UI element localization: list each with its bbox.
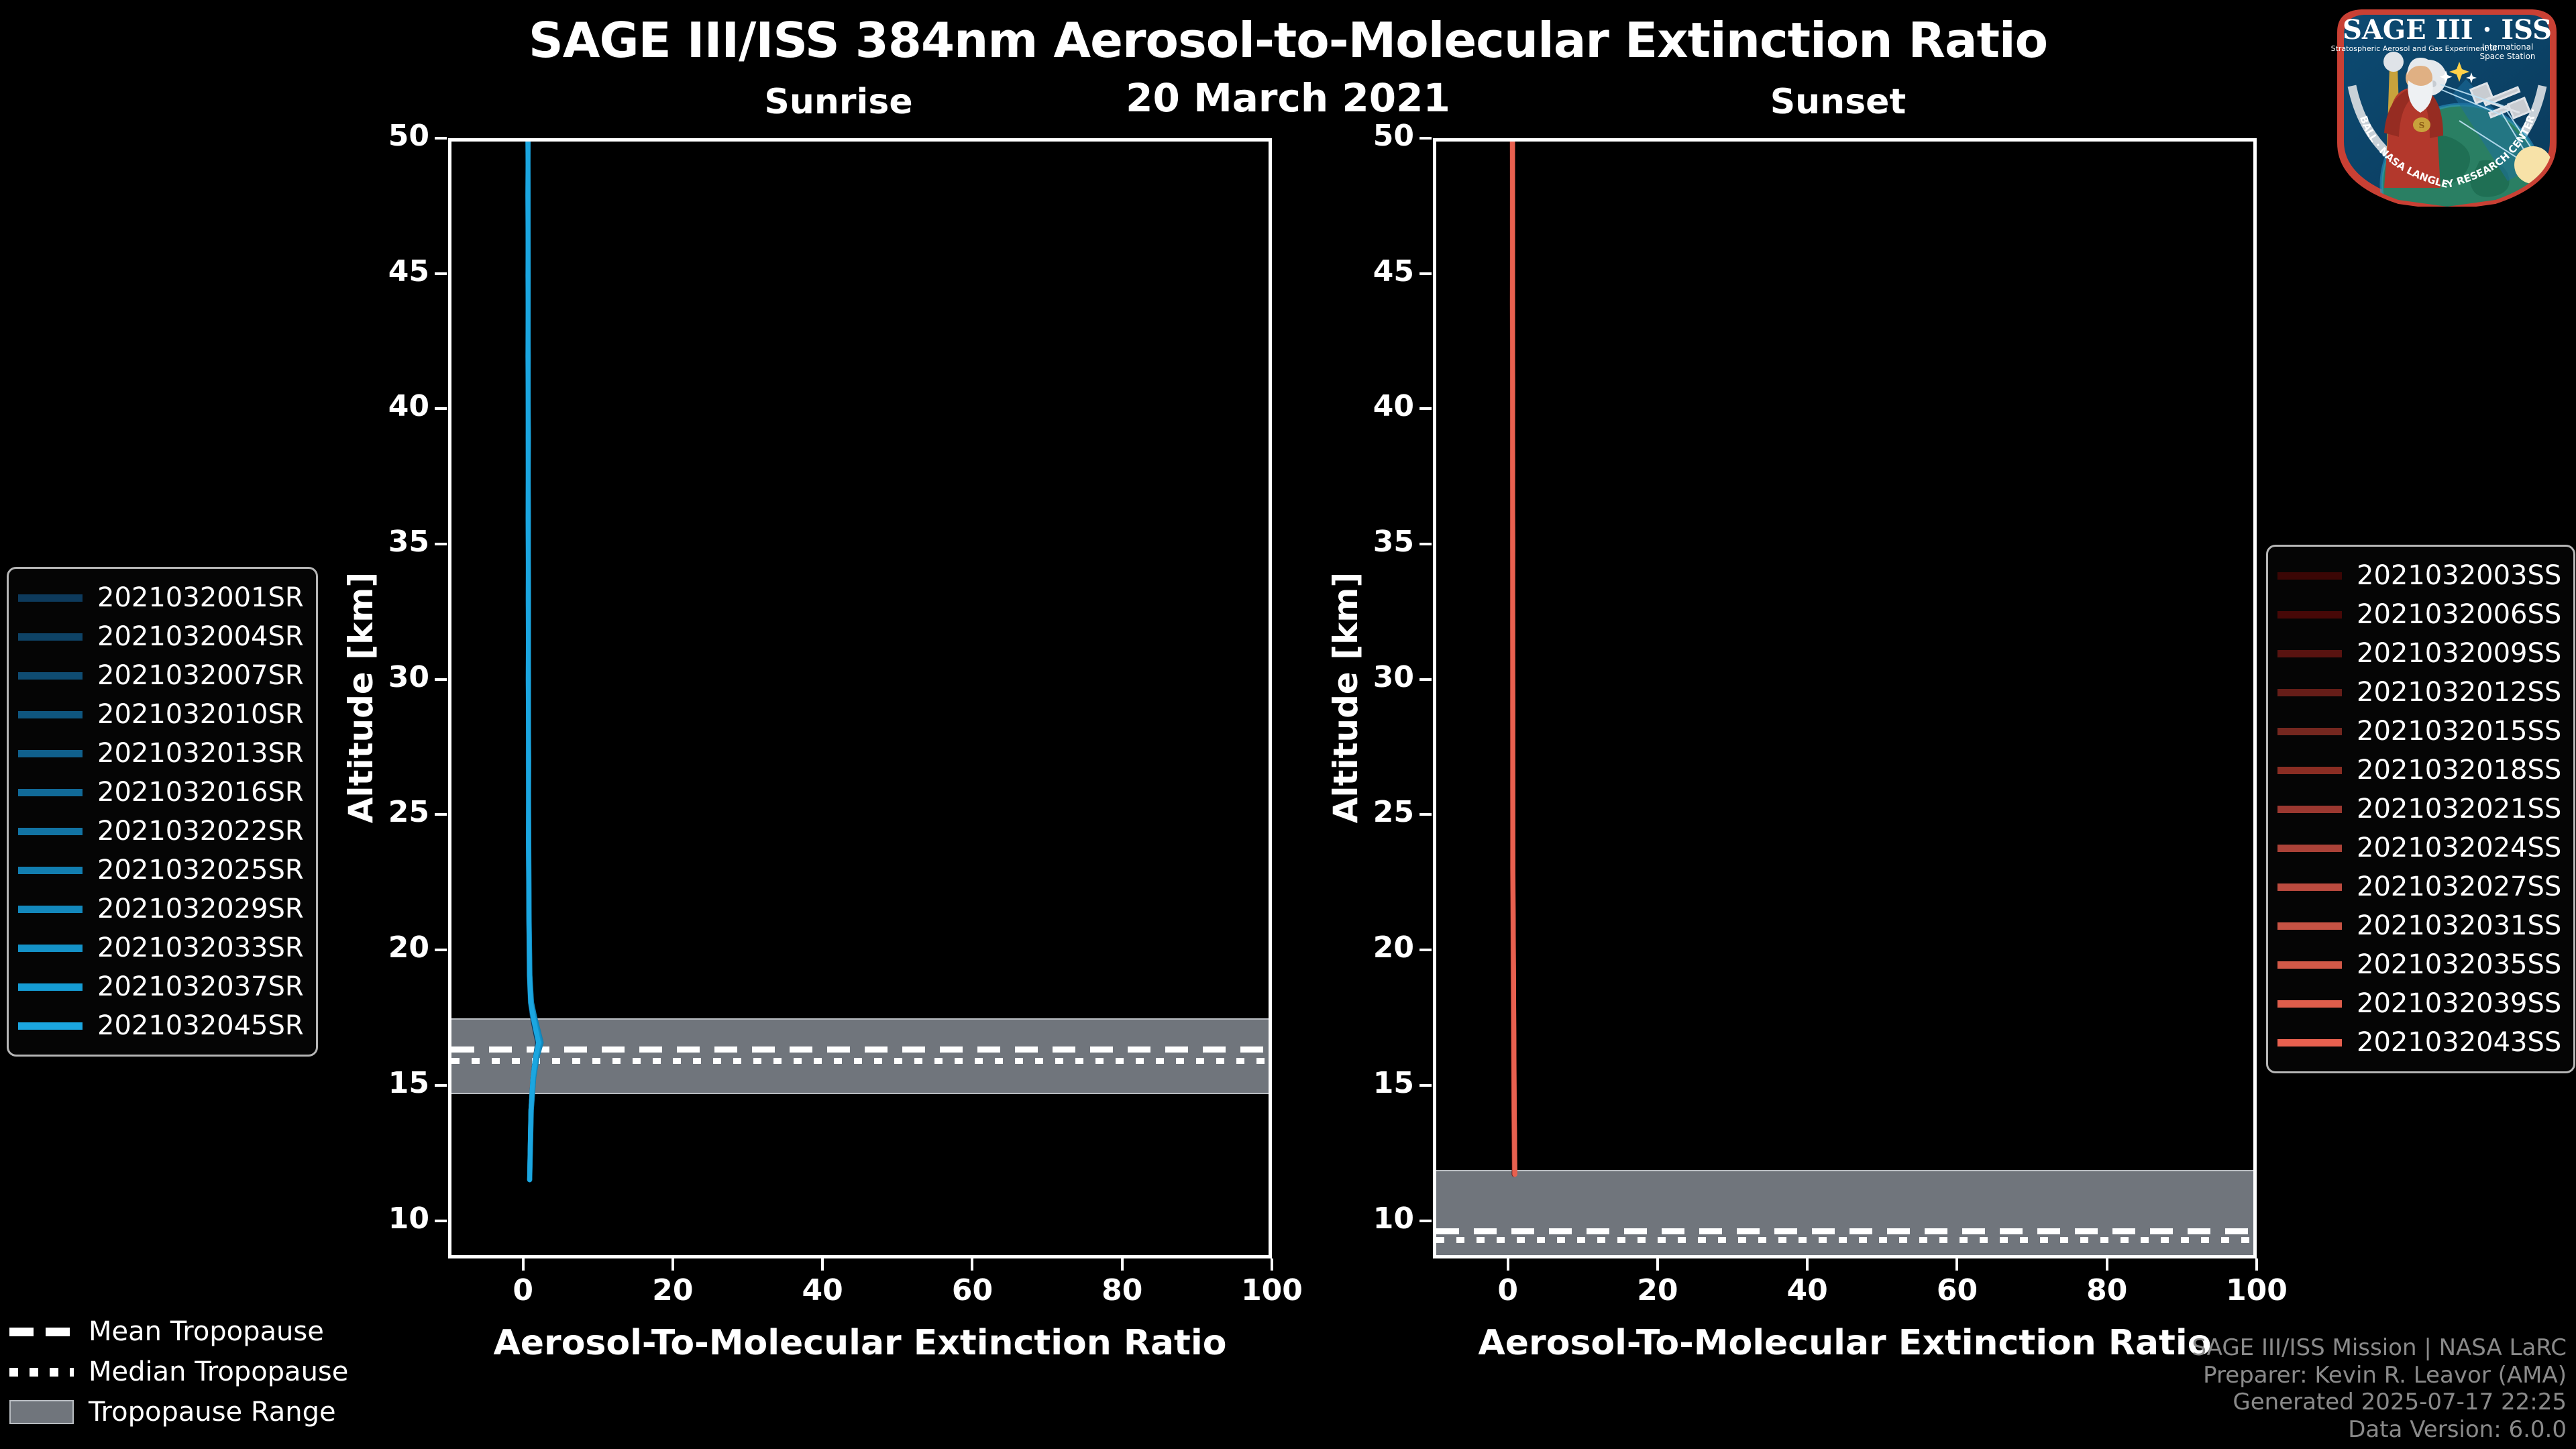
x-tick-label: 100 — [2203, 1273, 2310, 1307]
x-tick-label: 60 — [1903, 1273, 2010, 1307]
y-tick-label: 15 — [1313, 1066, 1414, 1100]
legend-label: 2021032006SS — [2357, 599, 2561, 630]
x-axis-label-sunrise: Aerosol-To-Molecular Extinction Ratio — [448, 1323, 1272, 1363]
legend-item[interactable]: 2021032039SS — [2277, 984, 2561, 1023]
legend-item[interactable]: 2021032024SS — [2277, 828, 2561, 867]
y-tick-mark — [435, 543, 447, 545]
legend-color-swatch — [2277, 922, 2342, 930]
legend-item[interactable]: 2021032015SS — [2277, 712, 2561, 751]
panel-title-sunset: Sunset — [1630, 82, 2046, 122]
legend-label: 2021032039SS — [2357, 988, 2561, 1019]
legend-item[interactable]: 2021032018SS — [2277, 751, 2561, 790]
sage-iii-iss-mission-patch-icon: S BALL · NASA LANGLEY RESEARCH CENTER · … — [2328, 5, 2566, 207]
y-tick-mark — [1419, 543, 1432, 545]
svg-text:SAGE III · ISS: SAGE III · ISS — [2343, 14, 2552, 46]
y-tick-mark — [1419, 1084, 1432, 1087]
y-tick-mark — [435, 949, 447, 951]
legend-item[interactable]: 2021032045SR — [18, 1006, 304, 1045]
y-tick-mark — [435, 1084, 447, 1087]
page-title: SAGE III/ISS 384nm Aerosol-to-Molecular … — [0, 12, 2576, 68]
y-tick-label: 15 — [329, 1066, 429, 1100]
legend-item[interactable]: 2021032009SS — [2277, 634, 2561, 673]
legend-label: 2021032012SS — [2357, 677, 2561, 708]
x-tick-mark — [1271, 1258, 1273, 1271]
legend-color-swatch — [2277, 845, 2342, 852]
legend-color-swatch — [18, 750, 83, 757]
y-tick-mark — [1419, 813, 1432, 816]
legend-color-swatch — [2277, 767, 2342, 774]
y-tick-mark — [1419, 407, 1432, 410]
x-tick-mark — [1656, 1258, 1659, 1271]
y-tick-label: 45 — [1313, 254, 1414, 288]
x-tick-mark — [821, 1258, 824, 1271]
x-tick-mark — [1806, 1258, 1809, 1271]
plot-inner-sunset — [1436, 142, 2253, 1255]
svg-text:International: International — [2482, 42, 2534, 52]
legend-sunrise[interactable]: 2021032001SR2021032004SR2021032007SR2021… — [7, 567, 318, 1057]
legend-label: 2021032025SR — [97, 855, 304, 885]
series-layer — [451, 142, 1269, 1255]
legend-color-swatch — [18, 828, 83, 835]
legend-style-swatch — [9, 1400, 74, 1424]
legend-item-tropopause: Median Tropopause — [9, 1352, 348, 1392]
legend-color-swatch — [2277, 728, 2342, 735]
legend-item[interactable]: 2021032003SS — [2277, 556, 2561, 595]
y-tick-mark — [435, 137, 447, 140]
svg-text:S: S — [2419, 121, 2425, 130]
legend-style-swatch — [9, 1328, 74, 1336]
legend-label: 2021032033SR — [97, 932, 304, 963]
legend-label: 2021032035SS — [2357, 949, 2561, 980]
legend-label: 2021032045SR — [97, 1010, 304, 1041]
y-tick-mark — [435, 1220, 447, 1222]
y-tick-label: 10 — [1313, 1201, 1414, 1236]
credit-line: Generated 2025-07-17 22:25 — [2192, 1389, 2567, 1416]
legend-item[interactable]: 2021032012SS — [2277, 673, 2561, 712]
legend-label: 2021032043SS — [2357, 1027, 2561, 1058]
y-tick-mark — [1419, 678, 1432, 681]
x-tick-label: 80 — [1069, 1273, 1176, 1307]
x-tick-label: 40 — [769, 1273, 876, 1307]
series-layer — [1436, 142, 2253, 1255]
y-tick-mark — [1419, 949, 1432, 951]
legend-color-swatch — [2277, 572, 2342, 580]
legend-label: 2021032013SR — [97, 738, 304, 769]
legend-color-swatch — [18, 906, 83, 913]
legend-label: 2021032021SS — [2357, 794, 2561, 824]
legend-label: 2021032001SR — [97, 582, 304, 613]
legend-item[interactable]: 2021032004SR — [18, 617, 304, 656]
credit-line: Preparer: Kevin R. Leavor (AMA) — [2192, 1362, 2567, 1389]
y-tick-label: 40 — [1313, 389, 1414, 423]
legend-item[interactable]: 2021032037SR — [18, 967, 304, 1006]
legend-label: Tropopause Range — [89, 1397, 336, 1428]
y-tick-mark — [1419, 1220, 1432, 1222]
y-tick-mark — [1419, 137, 1432, 140]
plot-area-sunrise — [448, 138, 1272, 1258]
x-tick-mark — [1507, 1258, 1509, 1271]
svg-text:Space Station: Space Station — [2479, 52, 2535, 61]
credits-block: SAGE III/ISS Mission | NASA LaRCPreparer… — [2192, 1334, 2567, 1444]
legend-label: 2021032029SR — [97, 894, 304, 924]
credit-line: Data Version: 6.0.0 — [2192, 1416, 2567, 1444]
legend-item[interactable]: 2021032043SS — [2277, 1023, 2561, 1062]
legend-item[interactable]: 2021032013SR — [18, 734, 304, 773]
legend-item[interactable]: 2021032031SS — [2277, 906, 2561, 945]
legend-item-tropopause: Mean Tropopause — [9, 1311, 348, 1352]
svg-text:Stratospheric Aerosol and Gas: Stratospheric Aerosol and Gas Experiment… — [2331, 44, 2497, 53]
legend-item[interactable]: 2021032007SR — [18, 656, 304, 695]
y-tick-label: 50 — [329, 119, 429, 153]
legend-color-swatch — [2277, 961, 2342, 969]
x-tick-mark — [971, 1258, 973, 1271]
x-tick-label: 100 — [1218, 1273, 1326, 1307]
legend-color-swatch — [18, 983, 83, 991]
legend-item[interactable]: 2021032029SR — [18, 890, 304, 928]
legend-sunset[interactable]: 2021032003SS2021032006SS2021032009SS2021… — [2266, 545, 2575, 1073]
legend-color-swatch — [18, 633, 83, 641]
x-tick-label: 0 — [1454, 1273, 1562, 1307]
legend-color-swatch — [2277, 1000, 2342, 1008]
x-tick-mark — [672, 1258, 674, 1271]
legend-item[interactable]: 2021032010SR — [18, 695, 304, 734]
y-tick-label: 45 — [329, 254, 429, 288]
legend-item[interactable]: 2021032027SS — [2277, 867, 2561, 906]
legend-color-swatch — [2277, 883, 2342, 891]
plot-area-sunset — [1433, 138, 2257, 1258]
y-tick-mark — [435, 813, 447, 816]
legend-color-swatch — [18, 672, 83, 680]
legend-item[interactable]: 2021032016SR — [18, 773, 304, 812]
legend-color-swatch — [18, 711, 83, 718]
credit-line: SAGE III/ISS Mission | NASA LaRC — [2192, 1334, 2567, 1362]
legend-color-swatch — [18, 867, 83, 874]
y-tick-label: 20 — [329, 930, 429, 965]
legend-label: 2021032003SS — [2357, 560, 2561, 591]
x-tick-label: 20 — [619, 1273, 727, 1307]
x-tick-label: 40 — [1754, 1273, 1861, 1307]
date-subtitle: 20 March 2021 — [0, 75, 2576, 121]
x-axis-label-sunset: Aerosol-To-Molecular Extinction Ratio — [1433, 1323, 2257, 1363]
legend-color-swatch — [18, 789, 83, 796]
y-tick-mark — [435, 678, 447, 681]
legend-color-swatch — [2277, 806, 2342, 813]
legend-label: 2021032010SR — [97, 699, 304, 730]
legend-label: 2021032015SS — [2357, 716, 2561, 747]
legend-item[interactable]: 2021032035SS — [2277, 945, 2561, 984]
x-tick-label: 80 — [2053, 1273, 2161, 1307]
y-tick-label: 10 — [329, 1201, 429, 1236]
legend-label: 2021032007SR — [97, 660, 304, 691]
x-tick-label: 20 — [1604, 1273, 1711, 1307]
y-tick-label: 20 — [1313, 930, 1414, 965]
y-tick-mark — [435, 407, 447, 410]
legend-item[interactable]: 2021032033SR — [18, 928, 304, 967]
legend-color-swatch — [18, 1022, 83, 1030]
series-line — [1513, 142, 1515, 1175]
legend-color-swatch — [2277, 1039, 2342, 1046]
y-tick-label: 50 — [1313, 119, 1414, 153]
legend-color-swatch — [2277, 689, 2342, 696]
x-tick-mark — [522, 1258, 525, 1271]
legend-label: 2021032016SR — [97, 777, 304, 808]
x-tick-mark — [2255, 1258, 2258, 1271]
legend-item[interactable]: 2021032006SS — [2277, 595, 2561, 634]
legend-label: 2021032022SR — [97, 816, 304, 847]
legend-item[interactable]: 2021032001SR — [18, 578, 304, 617]
x-tick-mark — [2106, 1258, 2108, 1271]
legend-label: 2021032031SS — [2357, 910, 2561, 941]
y-tick-mark — [1419, 272, 1432, 275]
legend-color-swatch — [2277, 650, 2342, 657]
legend-label: 2021032004SR — [97, 621, 304, 652]
y-axis-label-sunset: Altitude [km] — [1326, 496, 1365, 899]
x-tick-label: 60 — [918, 1273, 1026, 1307]
legend-label: 2021032024SS — [2357, 833, 2561, 863]
legend-item[interactable]: 2021032022SR — [18, 812, 304, 851]
legend-label: Mean Tropopause — [89, 1316, 324, 1347]
legend-color-swatch — [2277, 611, 2342, 619]
x-tick-mark — [1955, 1258, 1958, 1271]
x-tick-label: 0 — [470, 1273, 577, 1307]
panel-title-sunrise: Sunrise — [631, 82, 1046, 122]
legend-item[interactable]: 2021032021SS — [2277, 790, 2561, 828]
x-tick-mark — [1121, 1258, 1124, 1271]
legend-item[interactable]: 2021032025SR — [18, 851, 304, 890]
legend-label: 2021032018SS — [2357, 755, 2561, 786]
legend-label: Median Tropopause — [89, 1356, 348, 1387]
legend-label: 2021032027SS — [2357, 871, 2561, 902]
legend-item-tropopause: Tropopause Range — [9, 1392, 348, 1432]
legend-tropopause: Mean TropopauseMedian TropopauseTropopau… — [9, 1311, 348, 1432]
figure-root: SAGE III/ISS 384nm Aerosol-to-Molecular … — [0, 0, 2576, 1449]
legend-color-swatch — [18, 594, 83, 602]
legend-label: 2021032009SS — [2357, 638, 2561, 669]
plot-inner-sunrise — [451, 142, 1269, 1255]
legend-style-swatch — [9, 1368, 74, 1377]
legend-color-swatch — [18, 945, 83, 952]
legend-label: 2021032037SR — [97, 971, 304, 1002]
y-axis-label-sunrise: Altitude [km] — [341, 496, 380, 899]
y-tick-mark — [435, 272, 447, 275]
y-tick-label: 40 — [329, 389, 429, 423]
